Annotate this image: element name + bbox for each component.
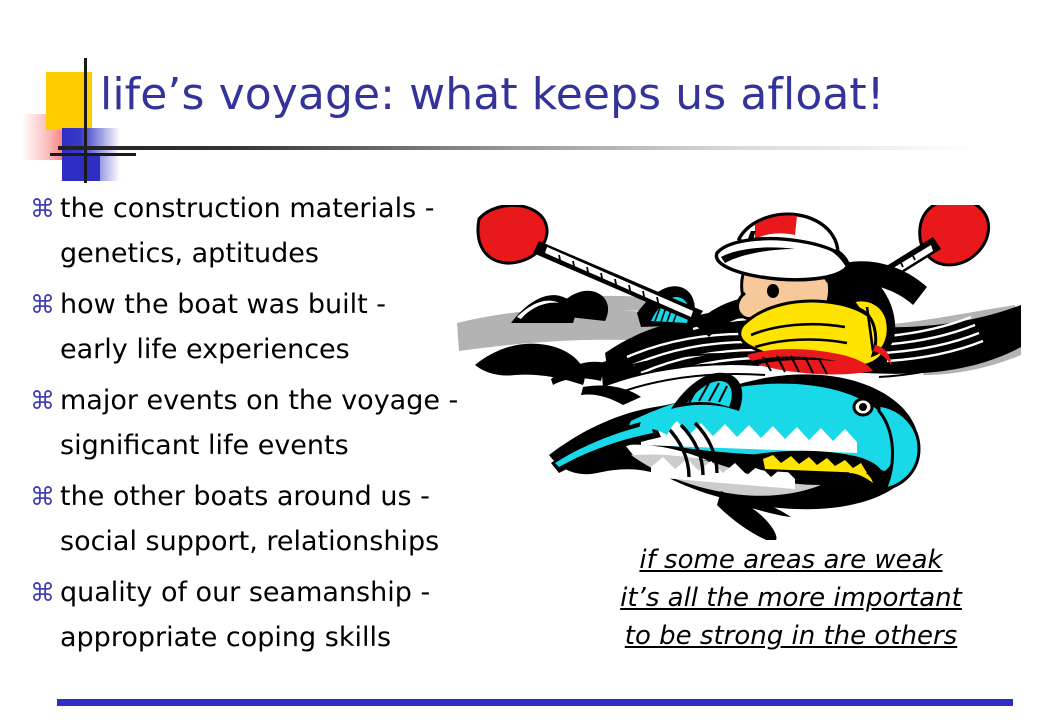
place-of-interest-bullet-icon: ⌘	[28, 378, 60, 423]
kayaker-and-shark-illustration	[455, 205, 1025, 540]
bullet-line-1: quality of our seamanship -	[60, 577, 430, 608]
foreground-shark	[549, 373, 919, 540]
paddler-hat	[716, 214, 848, 280]
bullet-line-1: how the boat was built -	[60, 289, 386, 320]
bullet-item-seamanship: ⌘ quality of our seamanship -appropriate…	[28, 570, 548, 660]
bullet-line-1: major events on the voyage -	[60, 385, 458, 416]
emphasis-caption: if some areas are weak it’s all the more…	[562, 541, 1020, 655]
place-of-interest-bullet-icon: ⌘	[28, 282, 60, 327]
logo-vertical-line	[84, 58, 87, 183]
paddler-eye	[767, 284, 779, 298]
slide-title: life’s voyage: what keeps us afloat!	[100, 68, 1030, 122]
bullet-line-2: appropriate coping skills	[60, 615, 548, 660]
bullet-line-1: the construction materials -	[60, 193, 434, 224]
place-of-interest-bullet-icon: ⌘	[28, 570, 60, 615]
slide-canvas: life’s voyage: what keeps us afloat! ⌘ t…	[0, 0, 1040, 720]
logo-blue-solid-block	[62, 153, 100, 181]
bottom-accent-rule	[57, 699, 1013, 706]
caption-line-3: to be strong in the others	[562, 617, 1020, 655]
place-of-interest-bullet-icon: ⌘	[28, 186, 60, 231]
caption-line-1: if some areas are weak	[562, 541, 1020, 579]
place-of-interest-bullet-icon: ⌘	[28, 474, 60, 519]
bullet-line-1: the other boats around us -	[60, 481, 430, 512]
bullet-text: quality of our seamanship -appropriate c…	[60, 570, 548, 660]
caption-line-2: it’s all the more important	[562, 579, 1020, 617]
logo-horizontal-line	[50, 153, 136, 156]
kayaker-shark-svg	[455, 205, 1025, 540]
title-divider-rule	[58, 146, 1018, 150]
